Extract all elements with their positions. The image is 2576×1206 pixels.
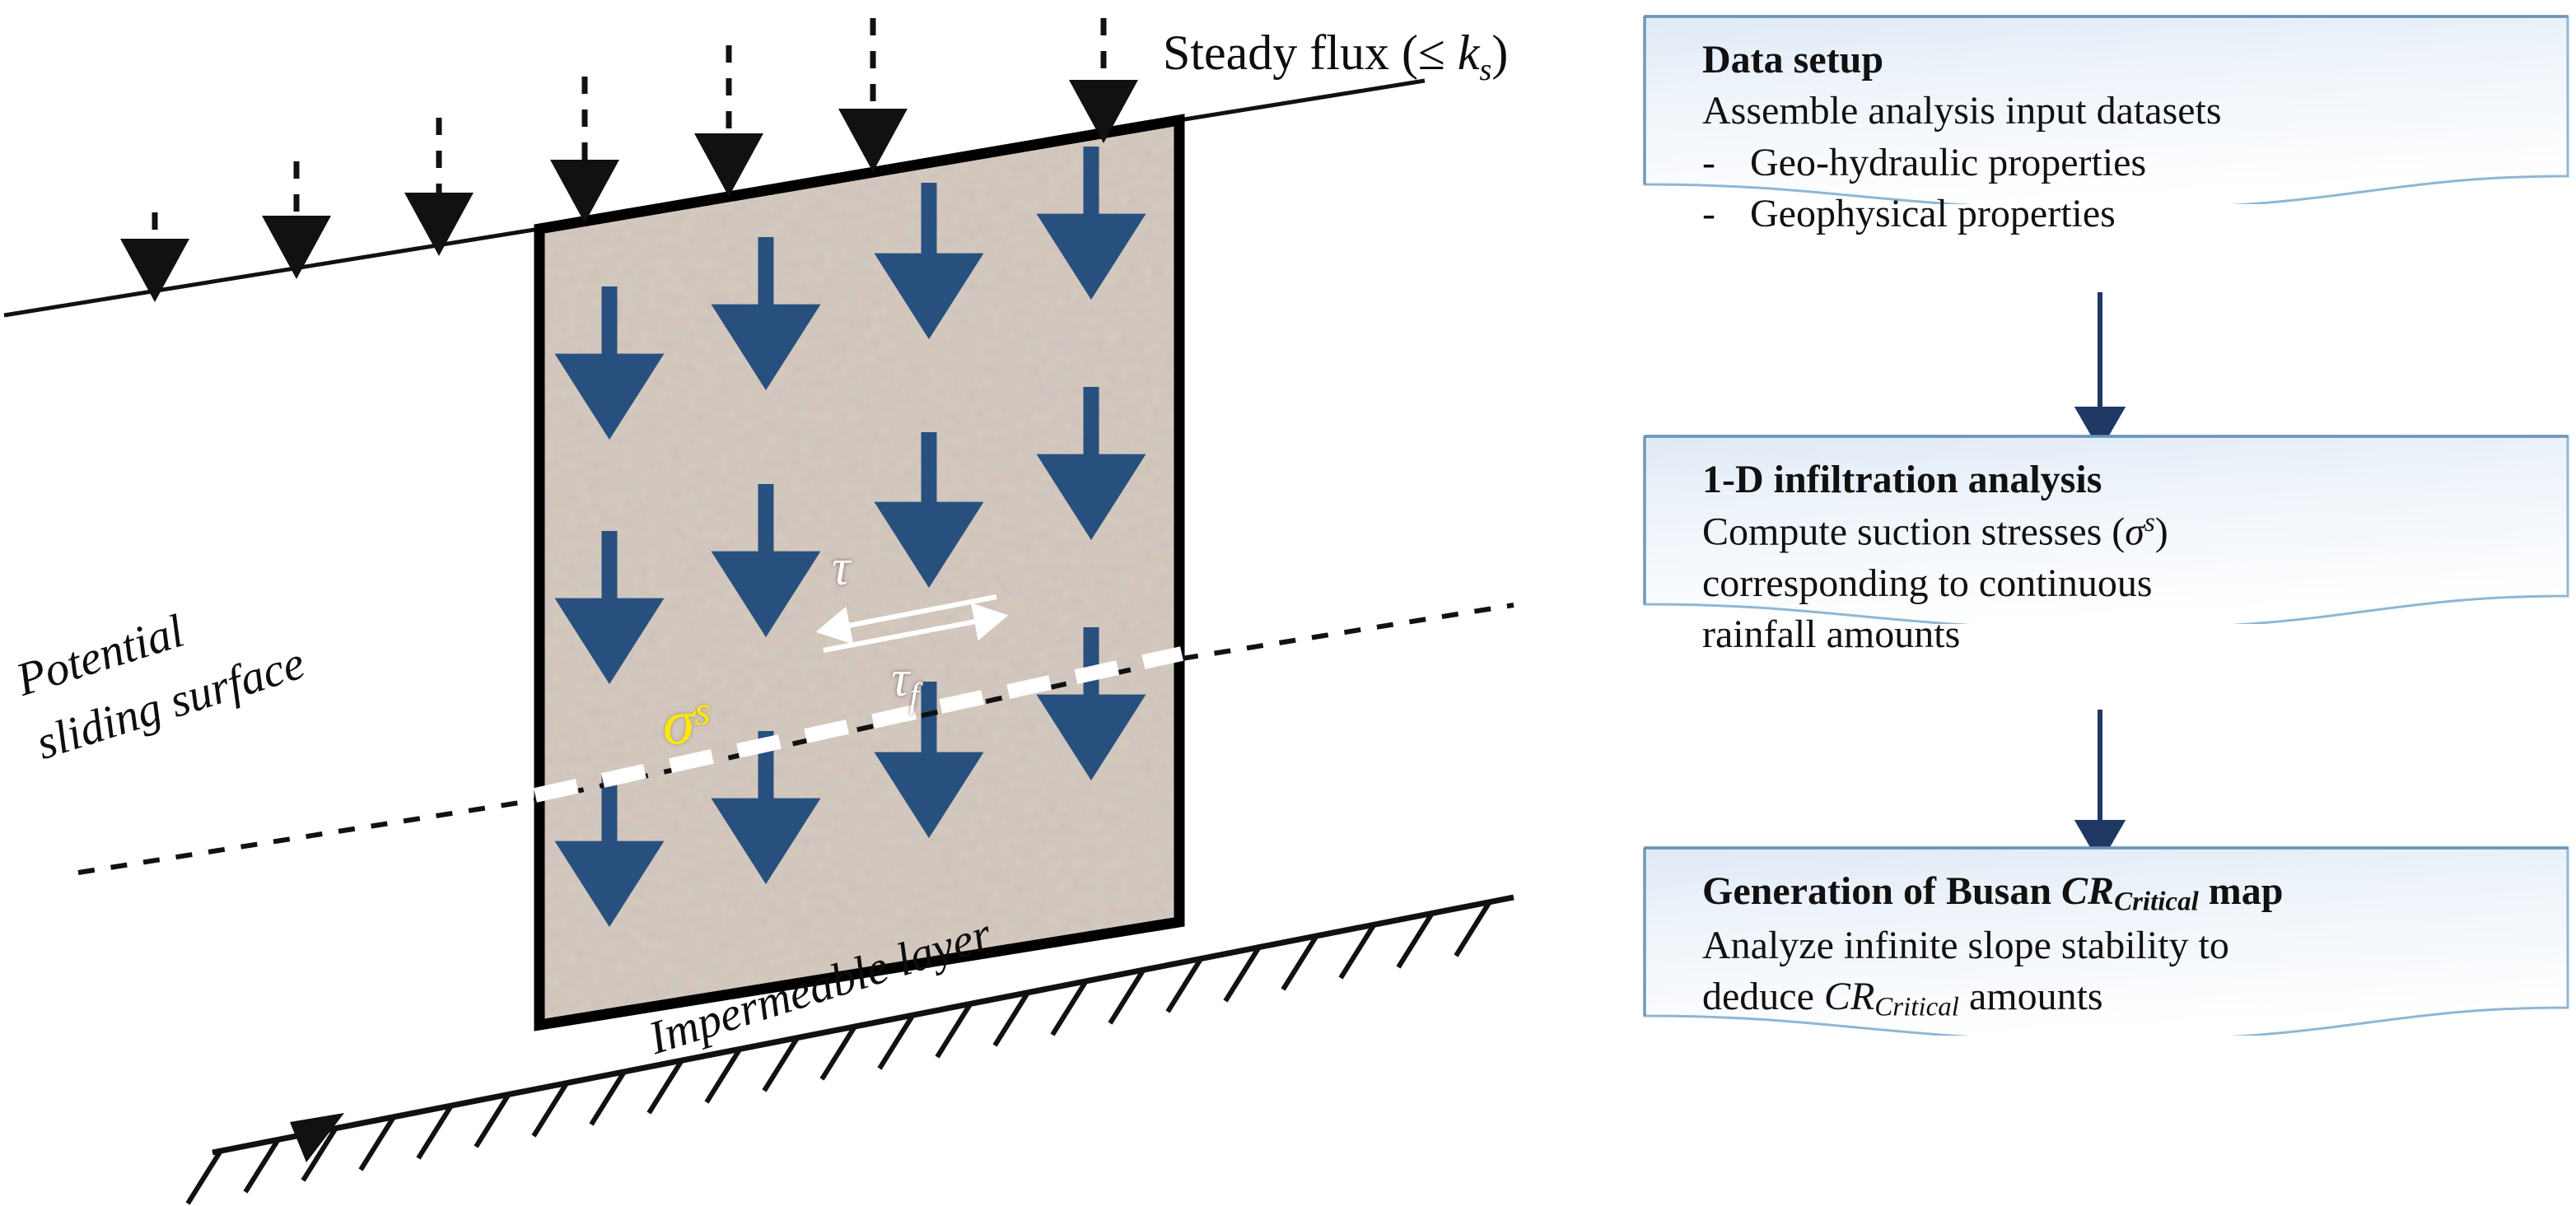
bullet-text: Geo-hydraulic properties bbox=[1750, 141, 2146, 184]
flow-box-3-body-line-2: deduce CRCritical amounts bbox=[1702, 971, 2550, 1026]
tau-f-label: τf bbox=[891, 650, 919, 715]
flow-box-3-body-line-1: Analyze infinite slope stability to bbox=[1702, 920, 2550, 971]
slope-infiltration-diagram: Steady flux (≤ ks) Potential sliding sur… bbox=[0, 0, 1614, 1206]
soil-block bbox=[527, 107, 1194, 1037]
tau-label: τ bbox=[832, 539, 850, 598]
flow-box-2-title: 1-D infiltration analysis bbox=[1702, 454, 2550, 505]
flow-box-cr-critical-map[interactable]: Generation of Busan CRCritical map Analy… bbox=[1643, 846, 2569, 1036]
flow-box-1-text: Data setup Assemble analysis input datas… bbox=[1702, 35, 2550, 240]
flow-box-infiltration-analysis[interactable]: 1-D infiltration analysis Compute suctio… bbox=[1643, 435, 2569, 624]
flow-box-3-title: Generation of Busan CRCritical map bbox=[1702, 866, 2550, 920]
flow-box-3-text: Generation of Busan CRCritical map Analy… bbox=[1702, 866, 2550, 1026]
flow-box-2-text: 1-D infiltration analysis Compute suctio… bbox=[1702, 454, 2550, 661]
flow-box-1-title: Data setup bbox=[1702, 35, 2550, 86]
figure-root: Steady flux (≤ ks) Potential sliding sur… bbox=[0, 0, 2576, 1206]
bullet-dash: - bbox=[1702, 189, 1750, 240]
flow-box-2-body-line-2: corresponding to continuous bbox=[1702, 558, 2550, 609]
workflow-flowchart: Data setup Assemble analysis input datas… bbox=[1614, 0, 2576, 1206]
flow-box-1-bullet-1: -Geo-hydraulic properties bbox=[1702, 137, 2550, 189]
flow-box-1-body: Assemble analysis input datasets bbox=[1702, 86, 2550, 137]
flow-box-2-body-line-3: rainfall amounts bbox=[1702, 609, 2550, 660]
suction-stress-label: σs bbox=[663, 685, 711, 759]
flow-box-data-setup[interactable]: Data setup Assemble analysis input datas… bbox=[1643, 15, 2569, 204]
steady-flux-label: Steady flux (≤ ks) bbox=[1163, 25, 1508, 88]
bullet-dash: - bbox=[1702, 137, 1750, 189]
bullet-text: Geophysical properties bbox=[1750, 192, 2116, 235]
flow-box-1-bullet-2: -Geophysical properties bbox=[1702, 189, 2550, 240]
flow-box-2-body-line-1: Compute suction stresses (σs) bbox=[1702, 505, 2550, 558]
